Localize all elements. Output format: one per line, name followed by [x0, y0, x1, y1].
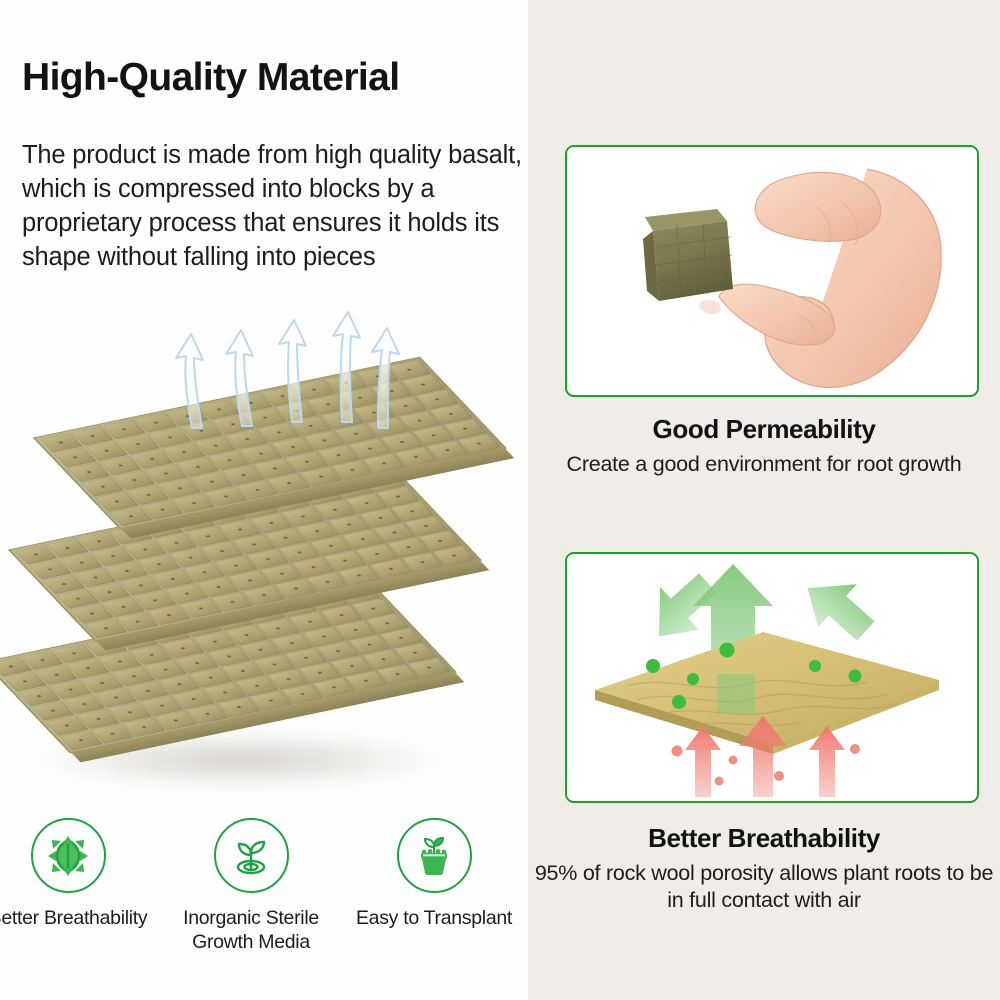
multi-direction-arrows-icon	[43, 831, 93, 881]
feature-icon-row: Better Breathability Inorganic Steri	[0, 818, 528, 954]
seedling-sprout-icon	[226, 831, 276, 881]
feature-circle	[397, 818, 472, 893]
card-title: Good Permeability	[528, 414, 1000, 445]
feature-item-transplant[interactable]: Easy to Transplant	[354, 818, 514, 954]
card-subtitle: Create a good environment for root growt…	[528, 451, 1000, 478]
caption-good-permeability: Good Permeability Create a good environm…	[528, 414, 1000, 478]
body-description: The product is made from high quality ba…	[22, 138, 522, 274]
page-title: High-Quality Material	[22, 57, 512, 100]
feature-item-breathability[interactable]: Better Breathability	[0, 818, 148, 954]
feature-circle	[214, 818, 289, 893]
feature-circle	[31, 818, 106, 893]
card-title: Better Breathability	[528, 823, 1000, 854]
rockwool-sheet-top	[60, 338, 480, 548]
feature-label: Better Breathability	[0, 906, 148, 930]
card-subtitle: 95% of rock wool porosity allows plant r…	[528, 860, 1000, 914]
rockwool-slab-airflow-diagram	[567, 554, 973, 797]
left-panel: High-Quality Material The product is mad…	[0, 0, 528, 1000]
feature-item-sterile-media[interactable]: Inorganic Sterile Growth Media	[171, 818, 331, 954]
feature-label: Inorganic Sterile Growth Media	[171, 906, 331, 954]
feature-label: Easy to Transplant	[354, 906, 514, 930]
rockwool-stack-illustration	[0, 300, 528, 800]
hand-holding-rockwool-cube-photo	[567, 147, 973, 391]
card-good-permeability[interactable]	[565, 145, 979, 397]
potted-plant-icon	[409, 831, 459, 881]
infographic-page: High-Quality Material The product is mad…	[0, 0, 1000, 1000]
card-better-breathability[interactable]	[565, 552, 979, 803]
caption-better-breathability: Better Breathability 95% of rock wool po…	[528, 823, 1000, 914]
